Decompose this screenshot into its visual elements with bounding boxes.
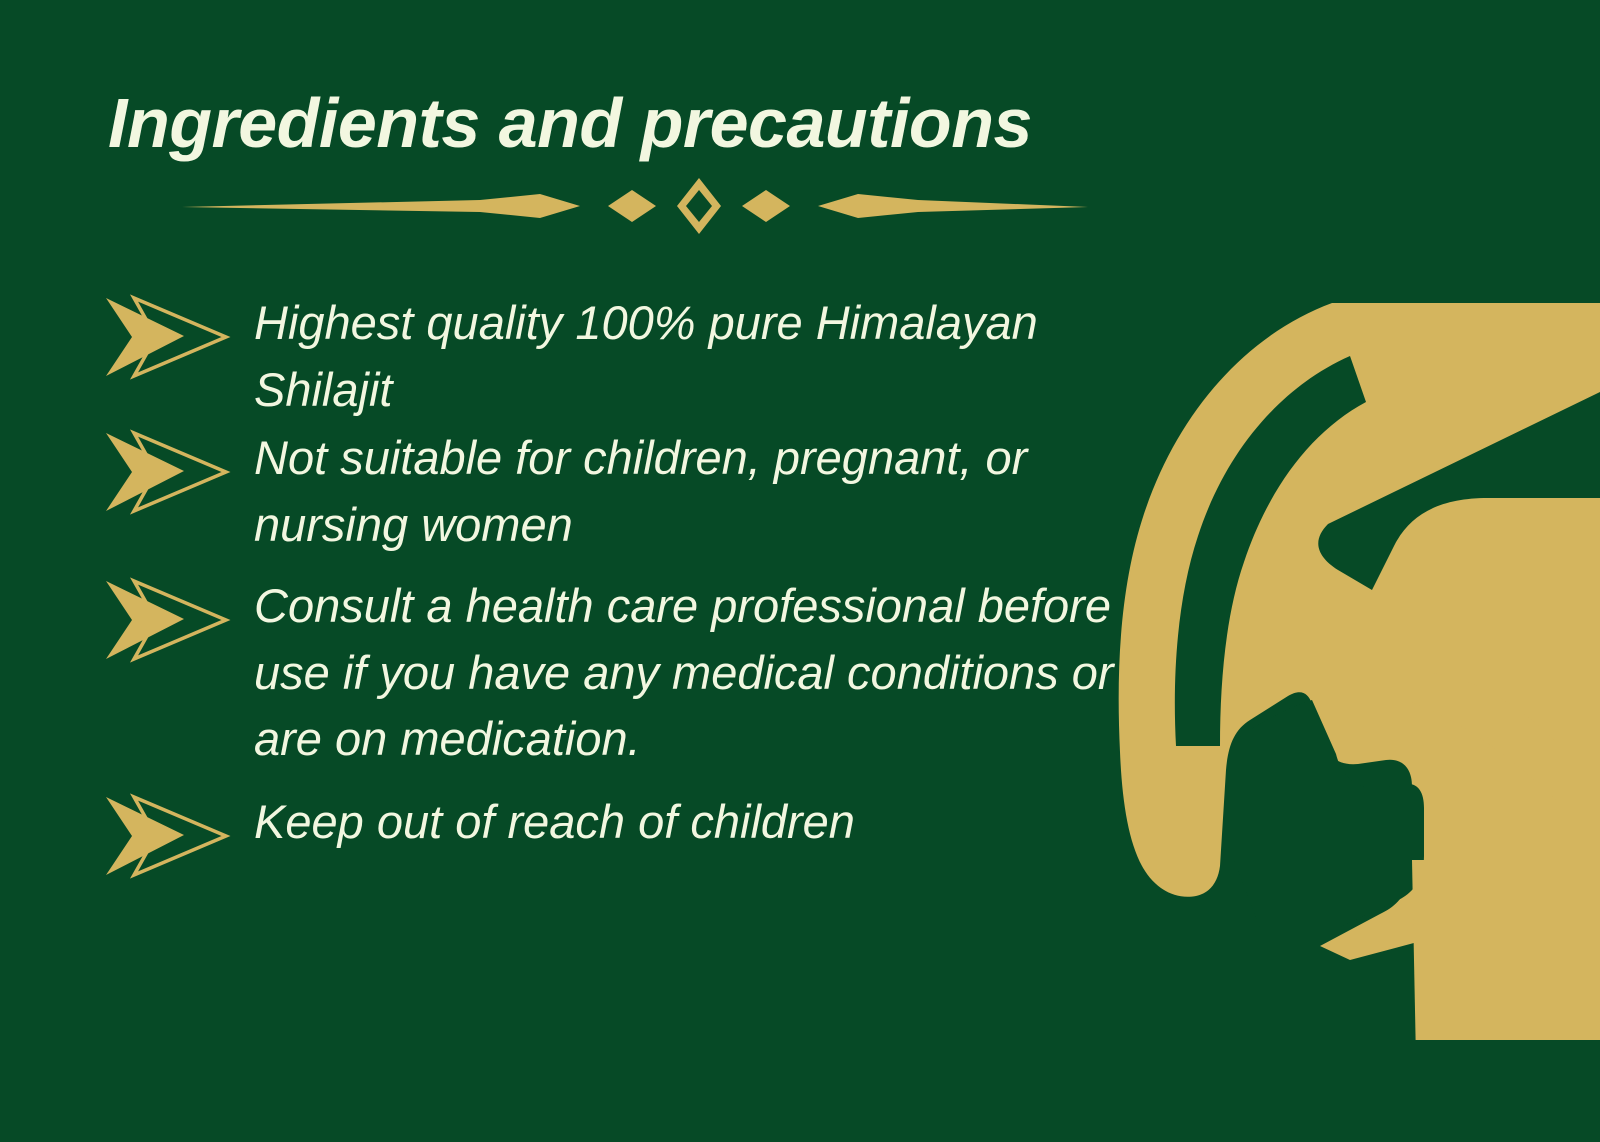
list-item-label: Consult a health care professional befor… xyxy=(254,571,1175,773)
list-item: Highest quality 100% pure Himalayan Shil… xyxy=(100,288,1175,423)
list-item-label: Not suitable for children, pregnant, or … xyxy=(254,423,1175,558)
slide-canvas: Ingredients and precautions Hig xyxy=(0,0,1600,1142)
list-item: Consult a health care professional befor… xyxy=(100,571,1175,773)
page-title: Ingredients and precautions xyxy=(108,88,1032,158)
double-chevron-arrow-icon xyxy=(100,429,232,515)
list-item-label: Keep out of reach of children xyxy=(254,787,1175,856)
list-item: Not suitable for children, pregnant, or … xyxy=(100,423,1175,558)
double-chevron-arrow-icon xyxy=(100,577,232,663)
list-item-label: Highest quality 100% pure Himalayan Shil… xyxy=(254,288,1175,423)
double-chevron-arrow-icon xyxy=(100,793,232,879)
list-item: Keep out of reach of children xyxy=(100,787,1175,879)
double-chevron-arrow-icon xyxy=(100,294,232,380)
ornamental-diamond-divider-icon xyxy=(180,178,1090,234)
bullet-list: Highest quality 100% pure Himalayan Shil… xyxy=(100,288,1175,879)
